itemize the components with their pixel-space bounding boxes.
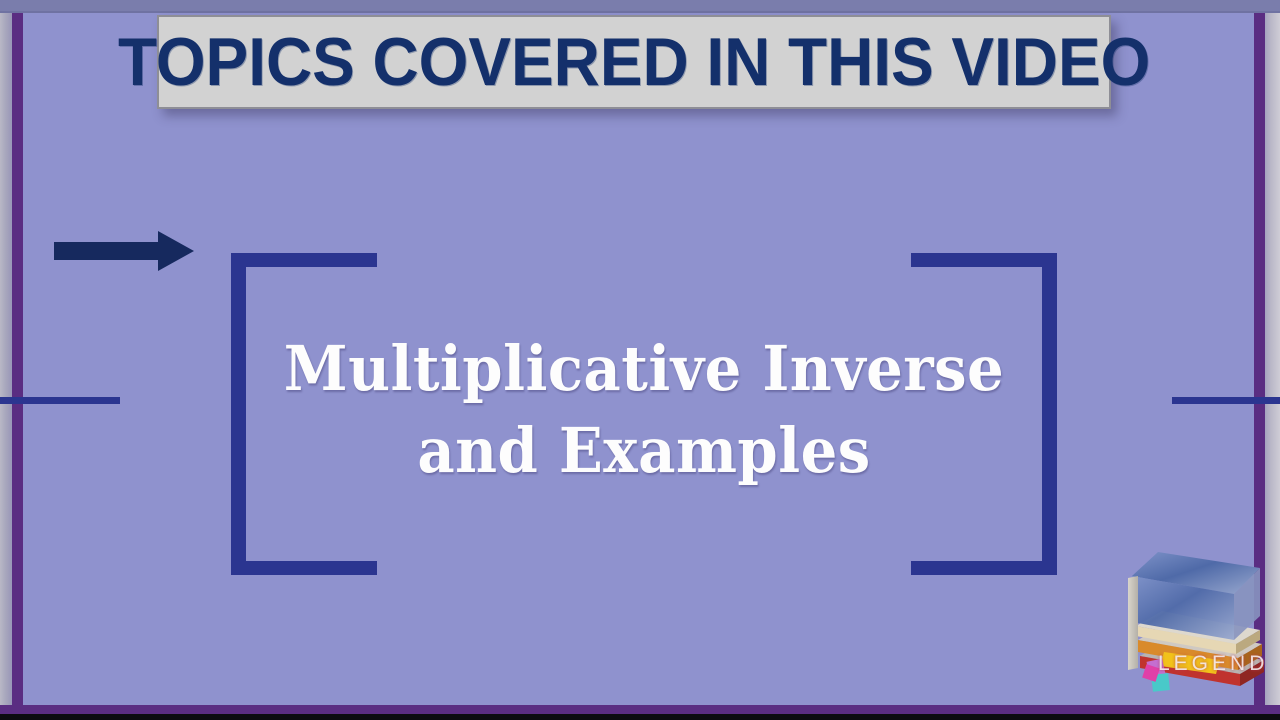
right-arrow-icon bbox=[54, 231, 194, 271]
logo-wordmark: LEGEND bbox=[1158, 652, 1268, 676]
book-stack-icon: LEGEND bbox=[1122, 548, 1274, 698]
heading-line-1: Multiplicative Inverse bbox=[260, 328, 1028, 410]
accent-rule-left bbox=[0, 397, 120, 404]
band-bottom bbox=[0, 705, 1280, 714]
band-bottom-letterbox bbox=[0, 714, 1280, 720]
rail-left bbox=[12, 0, 23, 720]
topics-banner: TOPICS COVERED IN THIS VIDEO bbox=[157, 15, 1111, 109]
band-top bbox=[0, 0, 1280, 13]
page-title: Multiplicative Inverse and Examples bbox=[260, 328, 1028, 493]
slide-stage: TOPICS COVERED IN THIS VIDEO Multiplicat… bbox=[0, 0, 1280, 720]
heading-line-2: and Examples bbox=[260, 410, 1028, 492]
banner-title-text: TOPICS COVERED IN THIS VIDEO bbox=[118, 28, 1150, 96]
accent-rule-right bbox=[1172, 397, 1280, 404]
